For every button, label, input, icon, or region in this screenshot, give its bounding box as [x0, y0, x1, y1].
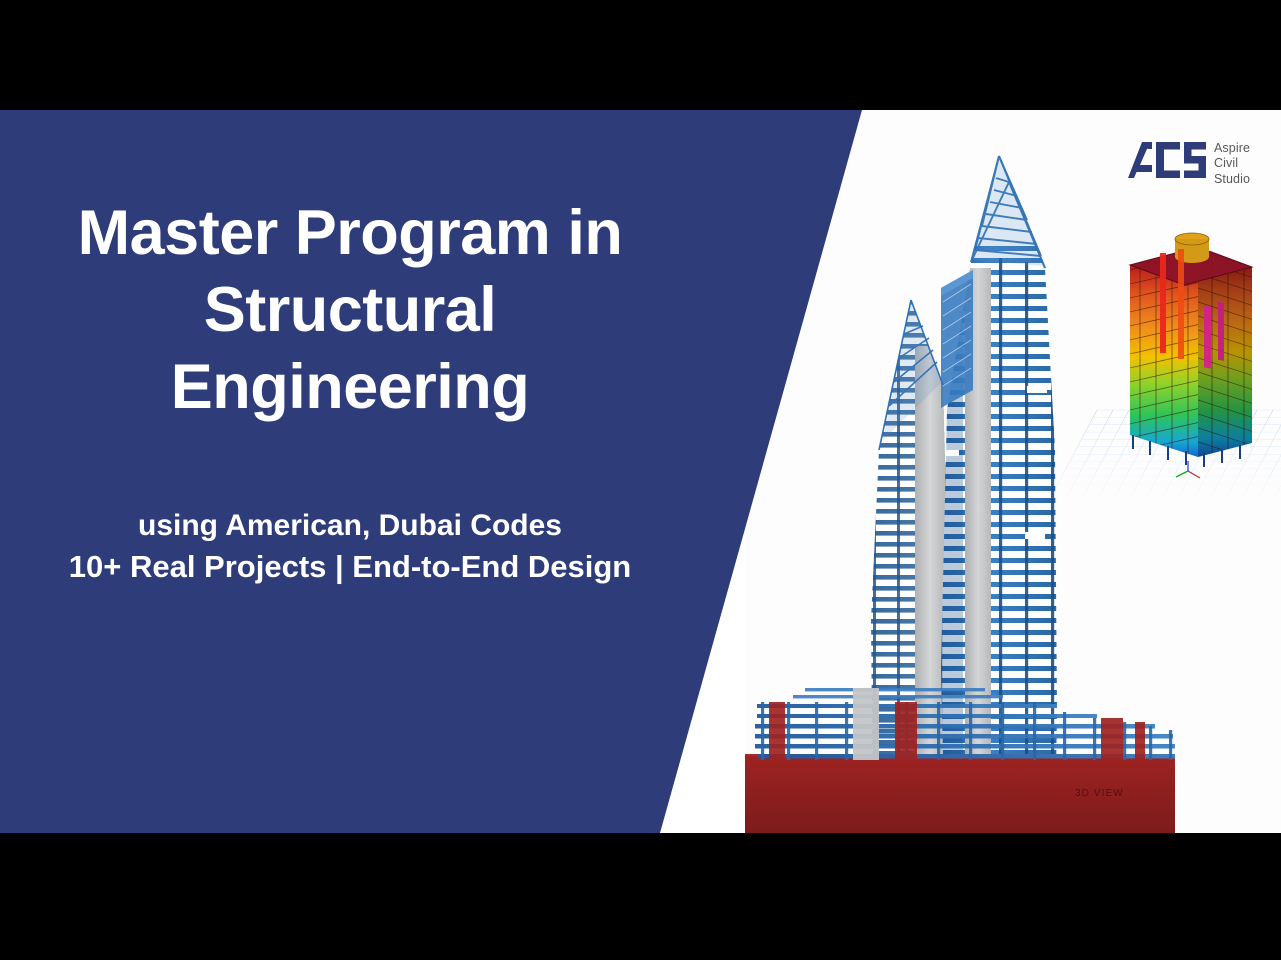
acs-logo-mark	[1128, 140, 1206, 180]
logo-word-studio: Studio	[1214, 172, 1250, 187]
logo-word-aspire: Aspire	[1214, 141, 1250, 156]
podium-and-foundation: 3D VIEW	[745, 688, 1281, 833]
slide-stage: 3D VIEW Master Program in Structural Eng…	[0, 110, 1281, 833]
page-title: Master Program in Structural Engineering	[0, 195, 700, 426]
acs-logo-wordmark: Aspire Civil Studio	[1214, 140, 1250, 187]
subtitle-line-1: using American, Dubai Codes	[10, 506, 690, 547]
podium-shear-walls	[769, 702, 1145, 760]
podium-frame	[745, 688, 1281, 833]
title-text-block: Master Program in Structural Engineering…	[0, 110, 700, 833]
tower-setback-block	[941, 270, 973, 408]
logo-word-civil: Civil	[1214, 156, 1250, 171]
slide-root: 3D VIEW Master Program in Structural Eng…	[0, 0, 1281, 960]
podium-core-wall	[853, 688, 879, 760]
letterbox-bottom	[0, 833, 1281, 960]
letterbox-top	[0, 0, 1281, 110]
contour-analysis-model	[1100, 195, 1280, 495]
subtitle-group: using American, Dubai Codes 10+ Real Pro…	[0, 506, 700, 589]
axis-triad	[1176, 461, 1200, 478]
subtitle-line-2: 10+ Real Projects | End-to-End Design	[10, 546, 690, 588]
acs-logo: Aspire Civil Studio	[1128, 140, 1250, 187]
